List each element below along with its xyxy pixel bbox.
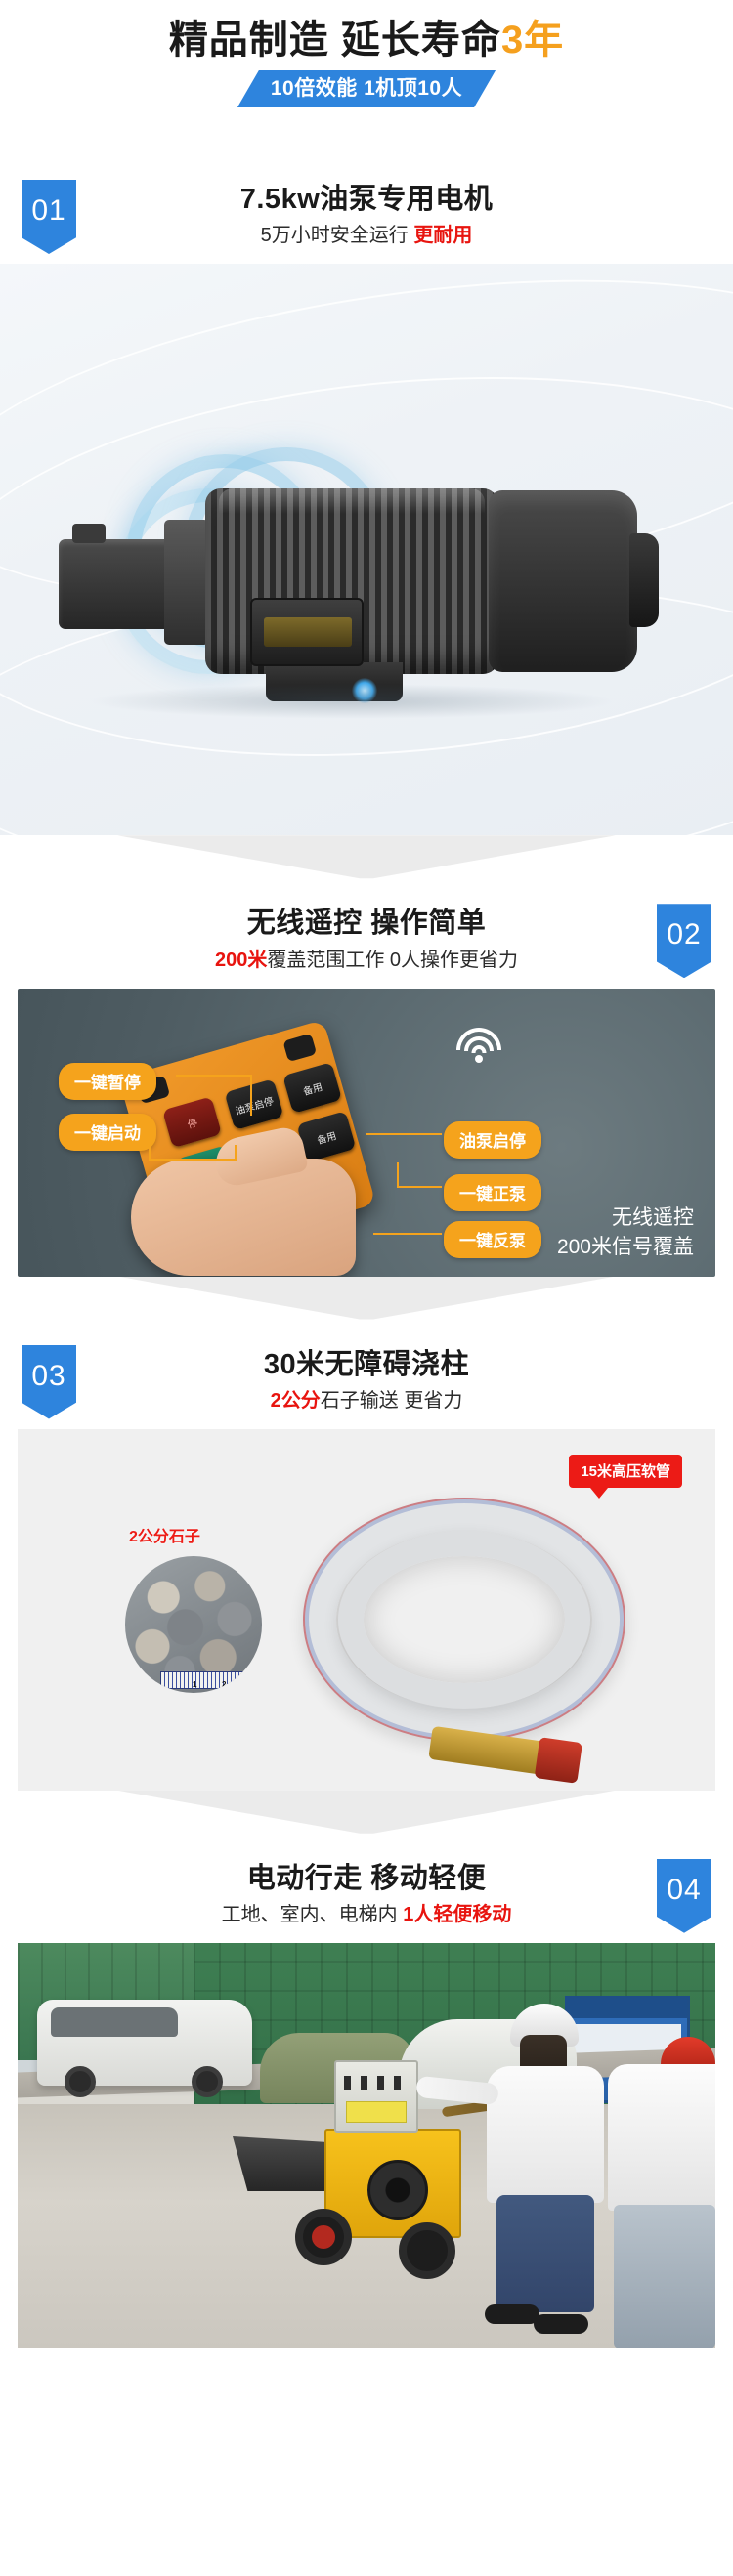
leader-line	[397, 1186, 442, 1188]
warning-label	[346, 2101, 407, 2123]
leader-line	[250, 1075, 252, 1116]
section-01-subtitle: 5万小时安全运行 更耐用	[0, 221, 733, 250]
control-knobs[interactable]	[344, 2076, 409, 2090]
header-banner-wrap: 10倍效能 1机顶10人	[0, 70, 733, 107]
leader-line	[176, 1075, 252, 1077]
worker-pushing-machine	[477, 2004, 608, 2326]
section-02-subtitle-red: 200米	[215, 950, 267, 971]
machine-wheel-front	[295, 2209, 352, 2265]
ruler-mark-1: 1	[193, 1680, 196, 1689]
section-02-head: 02 无线遥控 操作简单 200米覆盖范围工作 0人操作更省力	[0, 880, 733, 988]
arrow-shape	[0, 1791, 733, 1836]
worker-bystander	[602, 2037, 715, 2348]
section-02-subtitle: 200米覆盖范围工作 0人操作更省力	[0, 946, 733, 975]
van-window	[51, 2007, 178, 2037]
section-01-head: 01 7.5kw油泵专用电机 5万小时安全运行 更耐用	[0, 156, 733, 264]
callout-forward-pump: 一键正泵	[444, 1174, 541, 1211]
motor-illustration	[59, 469, 665, 694]
page-title-main: 精品制造 延长寿命	[169, 19, 501, 62]
leader-line	[149, 1159, 237, 1161]
gravel-label: 2公分石子	[129, 1523, 200, 1546]
section-03-subtitle-plain: 石子输送 更省力	[321, 1390, 463, 1412]
section-04-title: 电动行走 移动轻便	[0, 1861, 733, 1896]
ruler-mark-2: 2	[222, 1680, 226, 1689]
section-separator-arrow-2	[0, 1277, 733, 1322]
hose-coil	[283, 1488, 674, 1761]
remote-button-stop[interactable]: 停	[162, 1096, 222, 1148]
control-cabinet	[334, 2060, 418, 2133]
product-detail-page: 精品制造 延长寿命3年 10倍效能 1机顶10人 01 7.5kw油泵专用电机 …	[0, 0, 733, 2348]
section-number-03: 03	[31, 1345, 65, 1391]
motor-fan-hood	[489, 490, 637, 672]
hose-and-gravel-photo: 15米高压软管 2公分石子 1 2	[18, 1429, 715, 1791]
remote-control-photo: 停 动 油泵启停 备用 正泵启 备用 一键暂停 一键启动 油泵启停 一键正泵 一…	[18, 989, 715, 1277]
section-02-title: 无线遥控 操作简单	[0, 906, 733, 941]
remote-caption-line1: 无线遥控	[557, 1204, 694, 1233]
leader-line	[149, 1127, 151, 1161]
antenna-screw-icon	[282, 1033, 317, 1061]
ruler-icon: 1 2	[160, 1671, 244, 1689]
section-04-head: 04 电动行走 移动轻便 工地、室内、电梯内 1人轻便移动	[0, 1836, 733, 1943]
section-separator-arrow-3	[0, 1791, 733, 1836]
worker-shoe	[485, 2304, 539, 2324]
section-01-title: 7.5kw油泵专用电机	[0, 182, 733, 217]
hose-coupler	[428, 1726, 549, 1775]
remote-caption-line2: 200米信号覆盖	[557, 1233, 694, 1262]
worker-shirt	[487, 2066, 604, 2203]
header-banner: 10倍效能 1机顶10人	[237, 70, 496, 107]
worker-shoe	[534, 2314, 588, 2334]
section-number-04: 04	[667, 1859, 701, 1905]
van-wheel	[65, 2066, 96, 2097]
wireless-signal-icon	[453, 1028, 504, 1067]
motor-end-cap	[629, 533, 659, 627]
bystander-shirt	[608, 2064, 715, 2211]
page-title-accent: 3年	[501, 19, 564, 62]
leader-line	[397, 1162, 399, 1188]
hose-length-badge: 15米高压软管	[569, 1455, 682, 1488]
motor-shadow	[88, 684, 616, 719]
white-van	[37, 2000, 252, 2086]
concrete-pump-machine	[250, 2107, 485, 2293]
callout-pump-toggle: 油泵启停	[444, 1121, 541, 1159]
section-02-subtitle-plain: 覆盖范围工作 0人操作更省力	[267, 950, 518, 971]
worker-jeans	[496, 2195, 594, 2312]
section-01-subtitle-red: 更耐用	[413, 225, 472, 246]
arrow-shape	[0, 1277, 733, 1322]
motor-photo	[0, 264, 733, 835]
leader-line	[235, 1145, 237, 1161]
leader-line	[373, 1233, 442, 1235]
callout-reverse-pump: 一键反泵	[444, 1221, 541, 1258]
section-03-subtitle: 2公分石子输送 更省力	[0, 1386, 733, 1415]
section-04-subtitle-plain: 工地、室内、电梯内	[222, 1904, 404, 1925]
callout-start: 一键启动	[59, 1114, 156, 1151]
construction-site-photo	[18, 1943, 715, 2348]
section-04-subtitle-red: 1人轻便移动	[403, 1904, 511, 1925]
hose-inner-coil	[338, 1531, 590, 1709]
gravel-closeup: 1 2	[125, 1556, 262, 1693]
section-01-subtitle-plain: 5万小时安全运行	[261, 225, 414, 246]
section-03-title: 30米无障碍浇柱	[0, 1347, 733, 1382]
section-number-02: 02	[667, 904, 701, 950]
section-03-subtitle-red: 2公分	[271, 1390, 321, 1412]
section-04-subtitle: 工地、室内、电梯内 1人轻便移动	[0, 1900, 733, 1929]
remote-button-spare-1[interactable]: 备用	[282, 1062, 342, 1114]
leader-line	[366, 1133, 442, 1135]
terminal-box	[250, 598, 364, 666]
machine-pulley	[367, 2160, 428, 2220]
section-separator-arrow-1	[0, 835, 733, 880]
machine-wheel-rear	[399, 2222, 455, 2279]
remote-caption: 无线遥控 200米信号覆盖	[557, 1204, 694, 1263]
page-header: 精品制造 延长寿命3年 10倍效能 1机顶10人	[0, 0, 733, 156]
oil-pump-part	[59, 539, 174, 629]
section-03-head: 03 30米无障碍浇柱 2公分石子输送 更省力	[0, 1322, 733, 1429]
remote-and-hand: 停 动 油泵启停 备用 正泵启 备用	[131, 1045, 385, 1270]
section-number-01: 01	[31, 180, 65, 226]
remote-button-pump[interactable]: 油泵启停	[224, 1078, 283, 1130]
motor-flange	[164, 520, 209, 645]
bystander-pants	[614, 2205, 715, 2348]
arrow-shape	[0, 835, 733, 880]
hand-illustration	[131, 1159, 356, 1276]
page-title: 精品制造 延长寿命3年	[0, 18, 733, 63]
van-wheel	[192, 2066, 223, 2097]
callout-pause: 一键暂停	[59, 1063, 156, 1100]
